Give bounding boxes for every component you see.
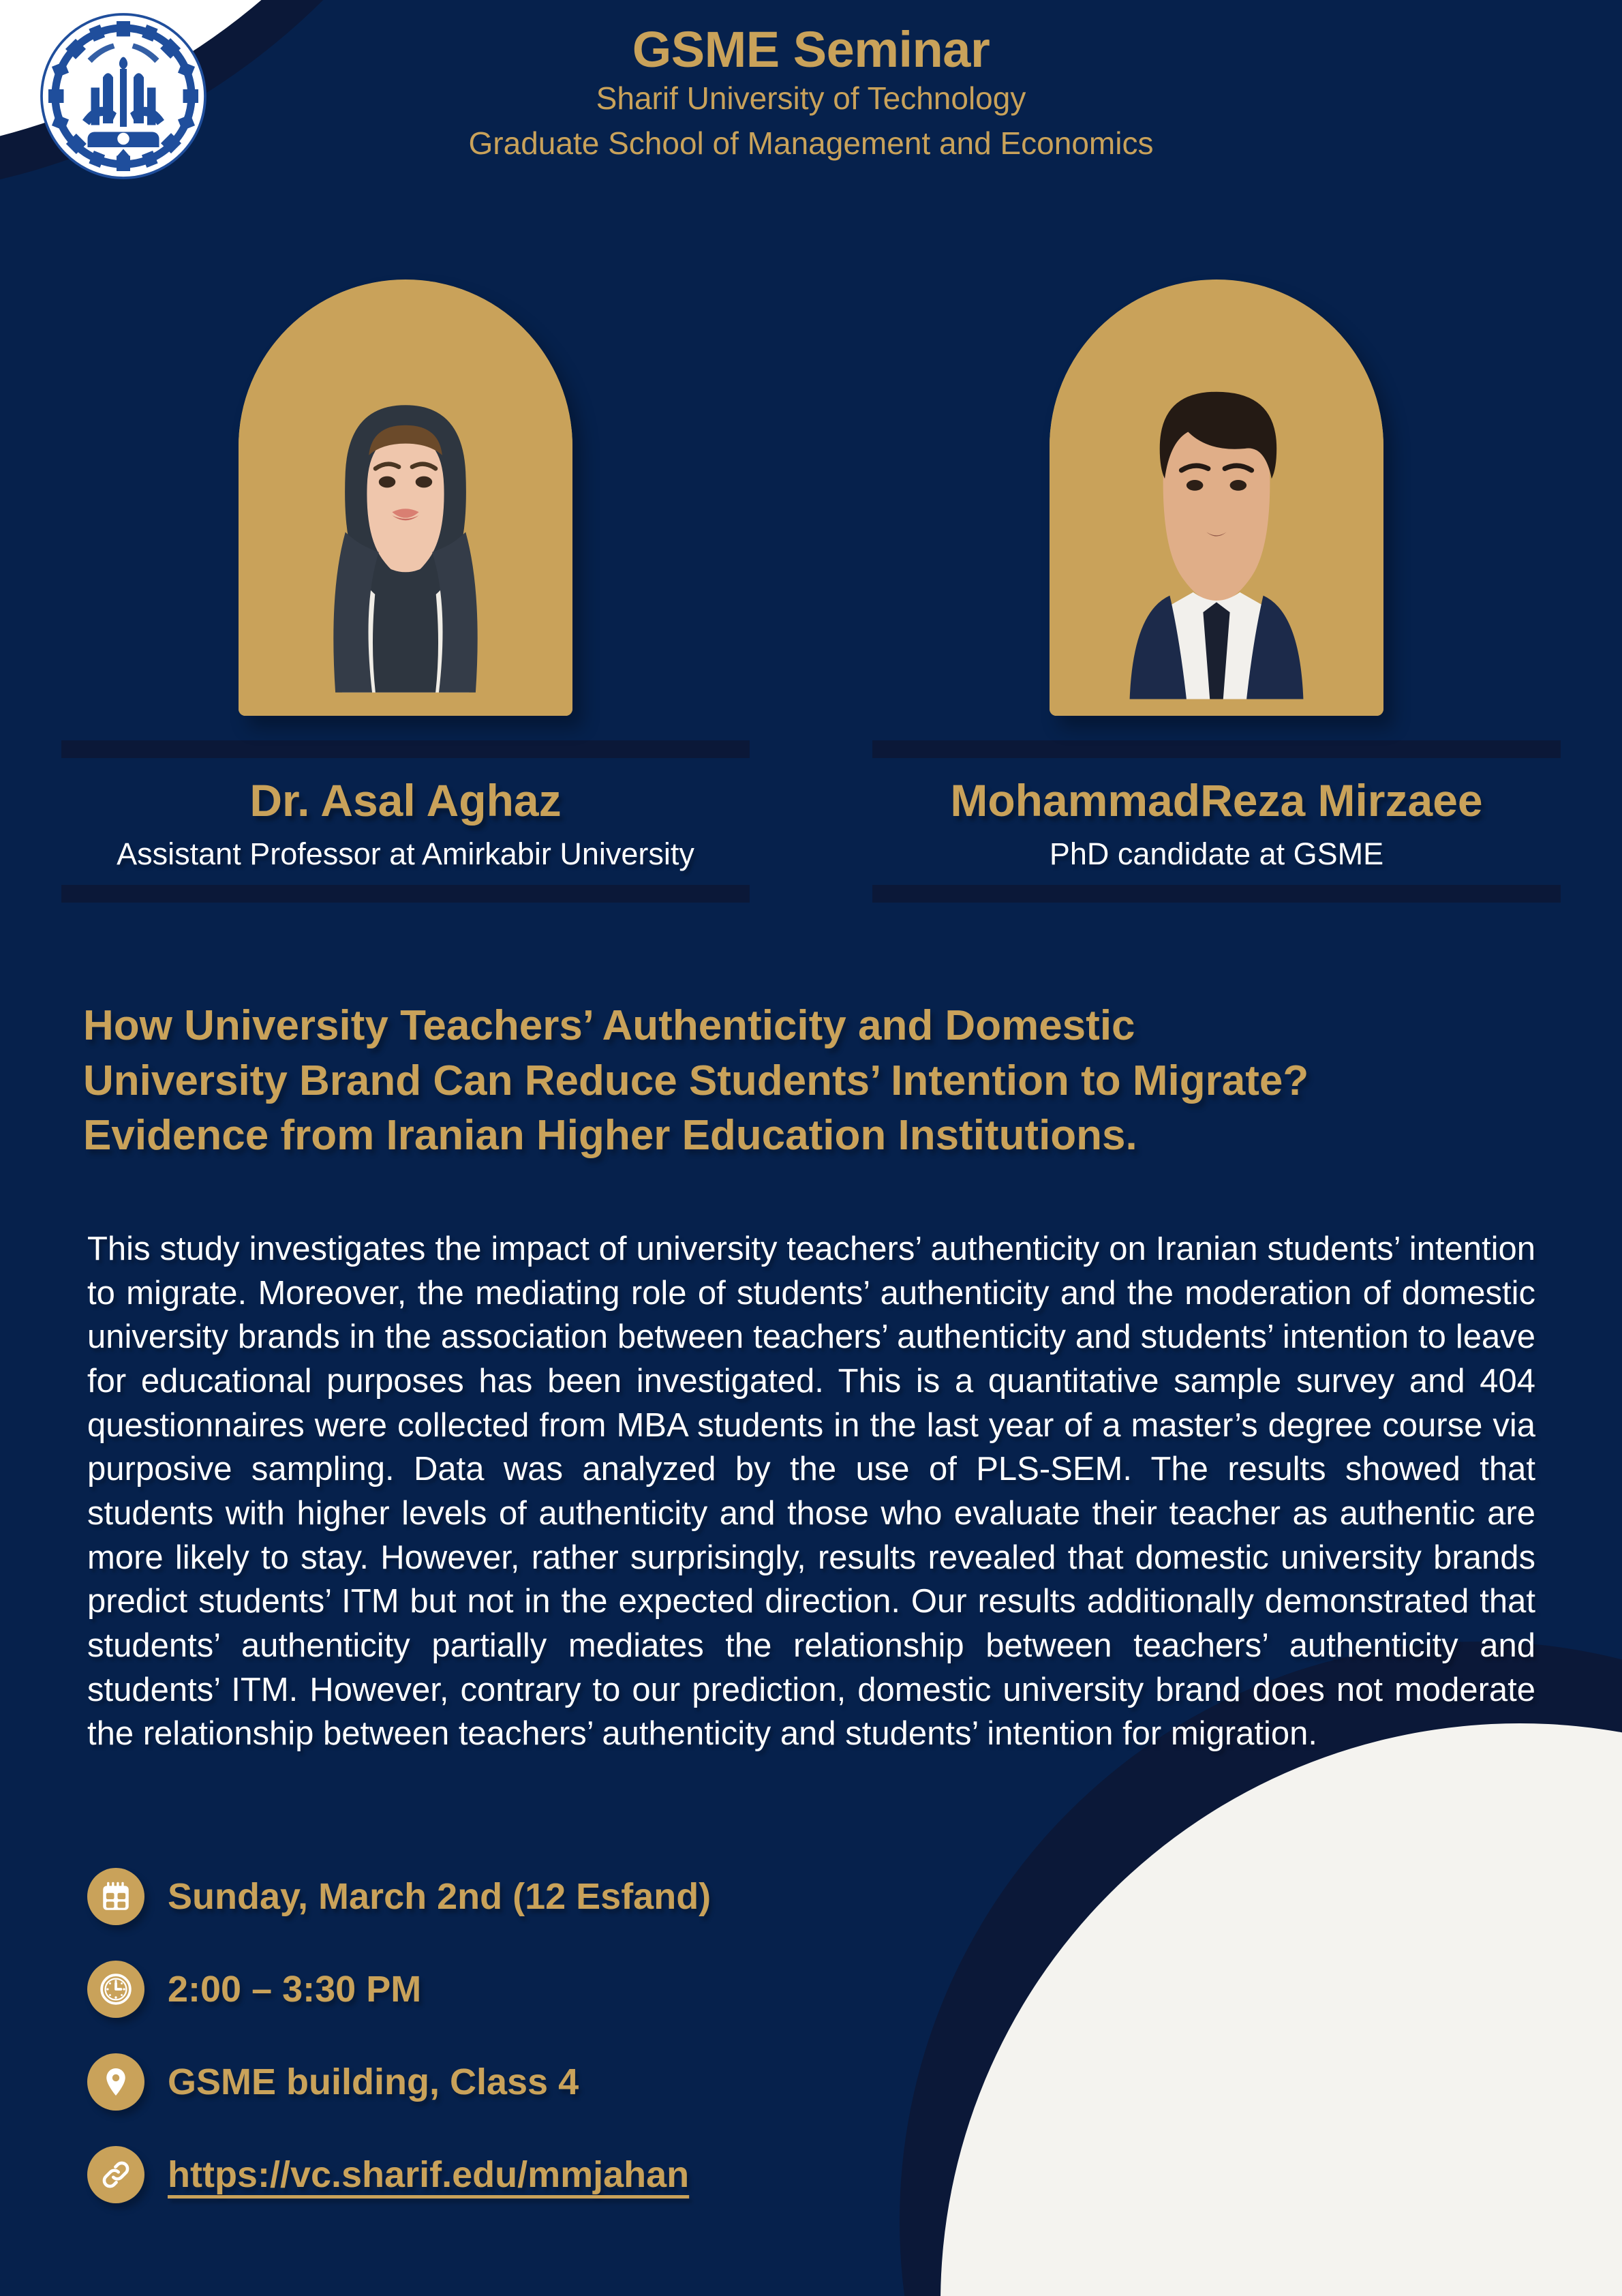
speaker-role: PhD candidate at GSME — [1050, 836, 1383, 872]
clock-icon — [87, 1961, 144, 2018]
talk-title-line-3: Evidence from Iranian Higher Education I… — [83, 1108, 1535, 1164]
bottom-right-cream-circle — [940, 1723, 1622, 2296]
link-icon — [87, 2146, 144, 2203]
location-pin-icon — [87, 2053, 144, 2111]
speaker-card: Dr. Asal Aghaz Assistant Professor at Am… — [0, 280, 811, 903]
event-details: Sunday, March 2nd (12 Esfand) — [87, 1868, 711, 2203]
speakers-section: Dr. Asal Aghaz Assistant Professor at Am… — [0, 280, 1622, 903]
detail-row-time: 2:00 – 3:30 PM — [87, 1961, 711, 2018]
talk-abstract: This study investigates the impact of un… — [87, 1227, 1535, 1756]
speaker-photo-mohammadreza-mirzaee — [1050, 280, 1383, 716]
talk-title: How University Teachers’ Authenticity an… — [83, 999, 1535, 1164]
sharif-university-logo — [38, 11, 209, 181]
calendar-icon — [87, 1868, 144, 1925]
talk-title-line-1: How University Teachers’ Authenticity an… — [83, 999, 1535, 1054]
talk-title-line-2: University Brand Can Reduce Students’ In… — [83, 1054, 1535, 1109]
detail-row-link[interactable]: https://vc.sharif.edu/mmjahan — [87, 2146, 711, 2203]
name-divider-top — [872, 740, 1561, 758]
speaker-name: Dr. Asal Aghaz — [249, 776, 561, 826]
speaker-photo-asal-aghaz — [239, 280, 572, 716]
detail-row-location: GSME building, Class 4 — [87, 2053, 711, 2111]
event-link[interactable]: https://vc.sharif.edu/mmjahan — [168, 2154, 689, 2195]
name-divider-bottom — [61, 885, 750, 903]
detail-row-date: Sunday, March 2nd (12 Esfand) — [87, 1868, 711, 1925]
event-time: 2:00 – 3:30 PM — [168, 1969, 421, 2010]
seminar-poster: GSME Seminar Sharif University of Techno… — [0, 0, 1622, 2296]
event-location: GSME building, Class 4 — [168, 2061, 579, 2102]
name-divider-bottom — [872, 885, 1561, 903]
name-divider-top — [61, 740, 750, 758]
avatar — [239, 280, 572, 716]
school-name: Graduate School of Management and Econom… — [0, 121, 1622, 166]
event-date: Sunday, March 2nd (12 Esfand) — [168, 1876, 711, 1917]
speaker-card: MohammadReza Mirzaee PhD candidate at GS… — [811, 280, 1622, 903]
speaker-role: Assistant Professor at Amirkabir Univers… — [117, 836, 694, 872]
speaker-name: MohammadReza Mirzaee — [950, 776, 1482, 826]
university-name: Sharif University of Technology — [0, 76, 1622, 121]
avatar — [1050, 280, 1383, 716]
